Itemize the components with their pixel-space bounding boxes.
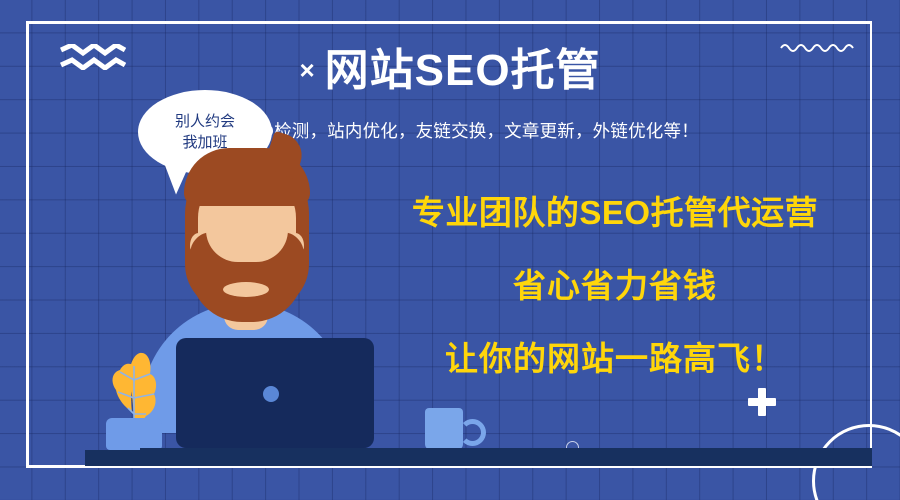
desk-front bbox=[140, 448, 872, 466]
title-cross-icon: × bbox=[299, 55, 314, 85]
plant-pot bbox=[106, 418, 162, 450]
coffee-mug-handle bbox=[459, 419, 486, 446]
laptop-logo-icon bbox=[263, 386, 279, 402]
speech-bubble-line-1: 别人约会 bbox=[175, 111, 235, 132]
title-text: 网站SEO托管 bbox=[325, 46, 601, 95]
mouth bbox=[223, 282, 269, 297]
frame-top-border bbox=[26, 21, 872, 24]
coffee-mug-icon bbox=[425, 408, 463, 450]
plus-icon bbox=[748, 388, 776, 416]
seo-hosting-banner: ×网站SEO托管 含：SEO检测，站内优化，友链交换，文章更新，外链优化等！ 专… bbox=[0, 0, 900, 500]
